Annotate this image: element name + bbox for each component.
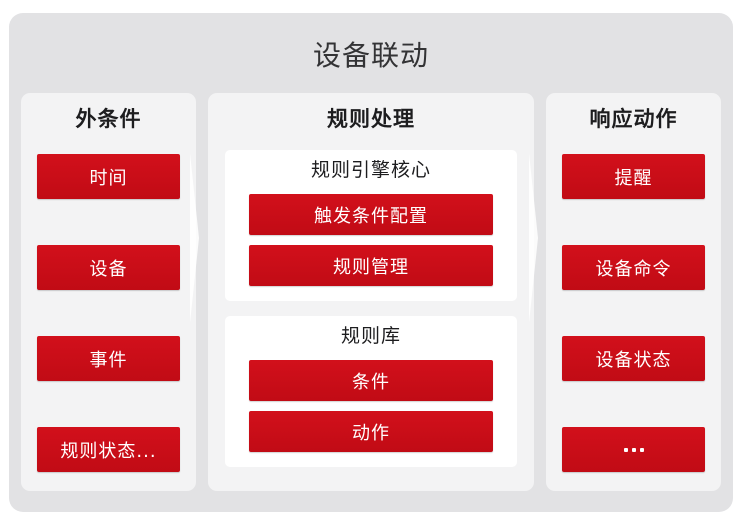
subcard-rule-library: 规则库 条件 动作 (225, 316, 517, 467)
column-header-external-conditions: 外条件 (21, 93, 196, 130)
chip-label: 规则状态... (60, 437, 156, 463)
chip-external-event[interactable]: 事件 (37, 336, 180, 381)
chip-action-device-status[interactable]: 设备状态 (562, 336, 705, 381)
chip-action-more[interactable] (562, 427, 705, 472)
chip-action-remind[interactable]: 提醒 (562, 154, 705, 199)
chip-label: 设备 (90, 255, 128, 281)
chip-external-rule-state[interactable]: 规则状态... (37, 427, 180, 472)
chip-label: 设备状态 (596, 346, 672, 372)
chip-label: 时间 (90, 164, 128, 190)
chip-label: 条件 (352, 368, 390, 394)
device-linkage-diagram: 设备联动 外条件 时间 设备 事件 规则状态... 规则处理 规则引擎核心 触发… (9, 13, 733, 512)
chip-library-action[interactable]: 动作 (249, 411, 493, 452)
column-header-response-actions: 响应动作 (546, 93, 721, 130)
subcard-title-rule-engine-core: 规则引擎核心 (225, 150, 517, 180)
chip-label: 规则管理 (333, 253, 409, 279)
chip-rule-management[interactable]: 规则管理 (249, 245, 493, 286)
chip-label: 动作 (352, 419, 390, 445)
chip-label: 提醒 (615, 164, 653, 190)
chip-action-device-command[interactable]: 设备命令 (562, 245, 705, 290)
column-header-rule-processing: 规则处理 (208, 93, 534, 130)
chip-label: 设备命令 (596, 255, 672, 281)
subcard-title-rule-library: 规则库 (225, 316, 517, 346)
subcard-rule-engine-core: 规则引擎核心 触发条件配置 规则管理 (225, 150, 517, 301)
chip-external-time[interactable]: 时间 (37, 154, 180, 199)
chip-label: 事件 (90, 346, 128, 372)
diagram-title: 设备联动 (9, 42, 733, 70)
chip-external-device[interactable]: 设备 (37, 245, 180, 290)
ellipsis-icon (624, 448, 644, 452)
column-external-conditions: 外条件 时间 设备 事件 规则状态... (21, 93, 196, 491)
column-rule-processing: 规则处理 规则引擎核心 触发条件配置 规则管理 规则库 条件 动作 (208, 93, 534, 491)
chip-label: 触发条件配置 (314, 202, 428, 228)
column-response-actions: 响应动作 提醒 设备命令 设备状态 (546, 93, 721, 491)
chip-library-condition[interactable]: 条件 (249, 360, 493, 401)
chip-trigger-condition-config[interactable]: 触发条件配置 (249, 194, 493, 235)
